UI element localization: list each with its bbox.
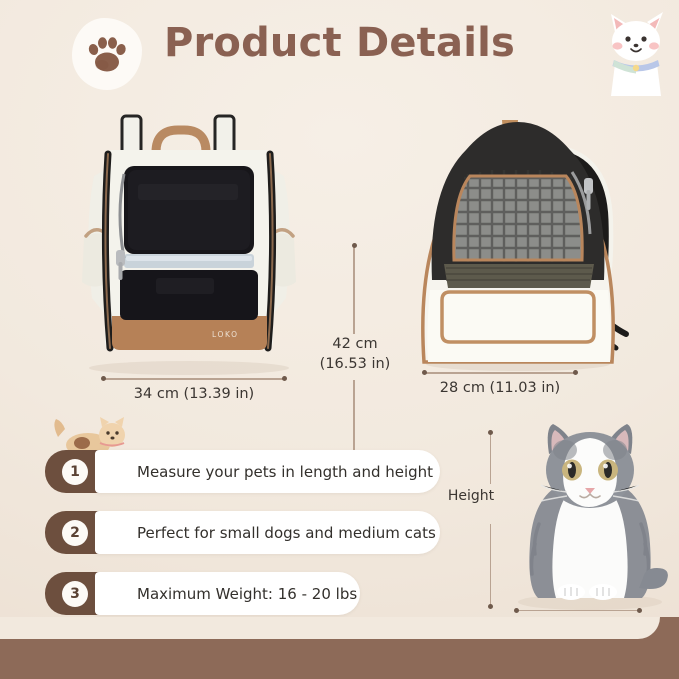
front-width-label: 34 cm (13.39 in) xyxy=(134,386,254,402)
cat-width-dimension-line: Width xyxy=(516,610,640,612)
cat-width-endpoint-left xyxy=(514,608,519,613)
height-value-cm: 42 cm xyxy=(305,335,405,355)
white-dog-sticker-icon xyxy=(601,8,671,96)
feature-list: 1 Measure your pets in length and height… xyxy=(45,450,465,633)
side-width-endpoint-left xyxy=(422,370,427,375)
list-item-pill: Maximum Weight: 16 - 20 lbs xyxy=(95,572,360,615)
cat-height-line-lower xyxy=(490,524,491,606)
front-width-endpoint-left xyxy=(101,376,106,381)
height-line-upper xyxy=(353,246,355,334)
backpack-front-view: LOKO xyxy=(72,110,307,375)
list-item-pill: Perfect for small dogs and medium cats xyxy=(95,511,440,554)
cat-height-endpoint-bottom xyxy=(488,604,493,609)
height-endpoint-top xyxy=(352,243,357,248)
product-details-infographic: Product Details xyxy=(0,0,679,679)
height-value-in: (16.53 in) xyxy=(305,355,405,375)
cat-height-endpoint-top xyxy=(488,430,493,435)
list-item[interactable]: 2 Perfect for small dogs and medium cats xyxy=(45,511,465,554)
list-item[interactable]: 3 Maximum Weight: 16 - 20 lbs xyxy=(45,572,465,615)
cat-height-dimension-line: Height xyxy=(490,428,492,610)
backpack-side-view xyxy=(406,112,636,372)
height-dimension-label: 42 cm (16.53 in) xyxy=(305,335,405,374)
list-item-pill: Measure your pets in length and height xyxy=(95,450,440,493)
list-item-text: Maximum Weight: 16 - 20 lbs xyxy=(95,585,357,603)
bottom-bar-curve-mask xyxy=(0,617,660,639)
cat-width-bar xyxy=(516,610,640,611)
side-width-bar xyxy=(424,372,576,374)
cat-width-endpoint-right xyxy=(637,608,642,613)
side-width-label: 28 cm (11.03 in) xyxy=(440,380,560,396)
front-width-bar xyxy=(103,378,285,380)
cat-measurement-panel: Height Width xyxy=(470,420,679,650)
front-width-dimension-line: 34 cm (13.39 in) xyxy=(103,378,285,380)
grey-white-cat-photo xyxy=(505,420,675,610)
product-images-area: LOKO xyxy=(0,100,679,410)
side-width-endpoint-right xyxy=(573,370,578,375)
list-item[interactable]: 1 Measure your pets in length and height xyxy=(45,450,465,493)
side-width-dimension-line: 28 cm (11.03 in) xyxy=(424,372,576,374)
brand-logo: LOKO xyxy=(212,330,239,339)
bottom-bar-curve xyxy=(0,617,679,639)
bottom-bar xyxy=(0,639,679,679)
page-title: Product Details xyxy=(0,20,679,66)
list-item-number: 3 xyxy=(62,581,88,607)
list-item-text: Perfect for small dogs and medium cats xyxy=(95,524,436,542)
cat-height-line-upper xyxy=(490,432,491,484)
list-item-number: 2 xyxy=(62,520,88,546)
cat-height-label: Height xyxy=(434,488,508,504)
list-item-number: 1 xyxy=(62,459,88,485)
front-width-endpoint-right xyxy=(282,376,287,381)
height-dimension-line: 42 cm (16.53 in) xyxy=(353,240,355,468)
list-item-text: Measure your pets in length and height xyxy=(95,463,433,481)
